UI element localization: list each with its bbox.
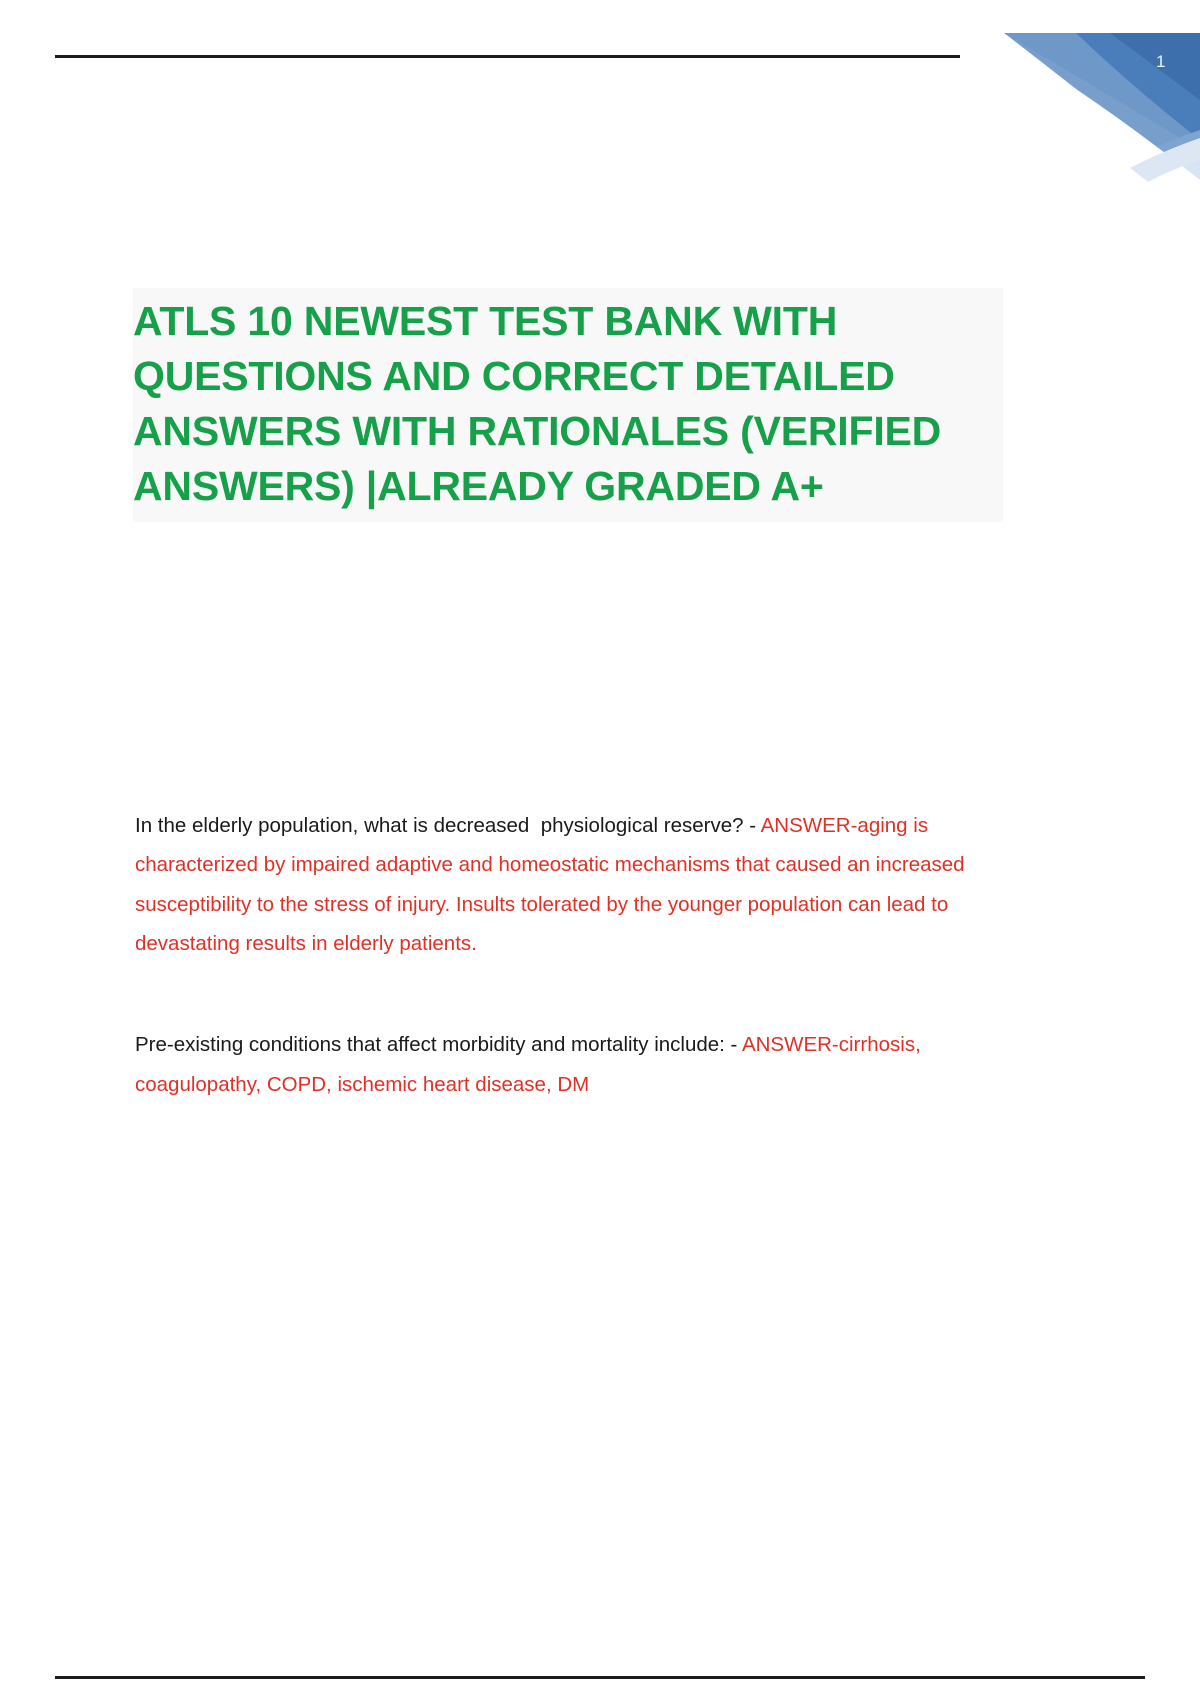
footer-divider bbox=[55, 1676, 1145, 1679]
page-title: ATLS 10 NEWEST TEST BANK WITH QUESTIONS … bbox=[133, 294, 1003, 514]
document-body: In the elderly population, what is decre… bbox=[135, 806, 1015, 1104]
corner-ribbon-icon bbox=[980, 30, 1200, 195]
document-page: 1 ATLS 10 NEWEST TEST BANK WITH QUESTION… bbox=[0, 0, 1200, 1700]
title-block: ATLS 10 NEWEST TEST BANK WITH QUESTIONS … bbox=[133, 288, 1003, 522]
qa-item: Pre-existing conditions that affect morb… bbox=[135, 1025, 1015, 1104]
qa-paragraph: Pre-existing conditions that affect morb… bbox=[135, 1025, 1015, 1104]
question-text: Pre-existing conditions that affect morb… bbox=[135, 1033, 742, 1056]
header-divider bbox=[55, 55, 960, 58]
qa-paragraph: In the elderly population, what is decre… bbox=[135, 806, 1015, 963]
page-number: 1 bbox=[1156, 52, 1166, 72]
corner-decoration: 1 bbox=[980, 30, 1200, 195]
qa-item: In the elderly population, what is decre… bbox=[135, 806, 1015, 963]
question-text: In the elderly population, what is decre… bbox=[135, 814, 761, 837]
